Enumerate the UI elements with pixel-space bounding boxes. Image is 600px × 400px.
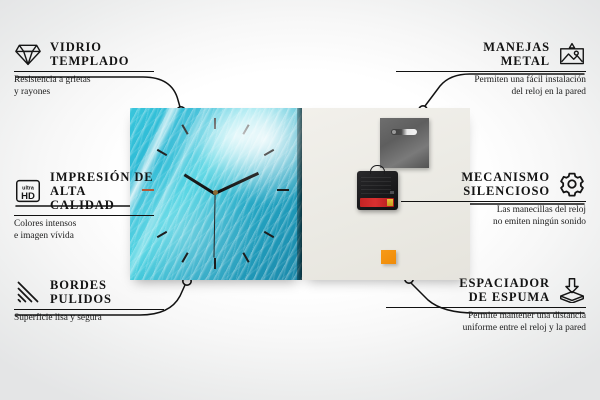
hanger-slot — [391, 129, 417, 135]
foam-spacer-pad — [381, 250, 396, 264]
infographic-canvas: VIDRIO TEMPLADO Resistencia a grietas y … — [0, 0, 600, 400]
feature-desc: Colores intensos e imagen vívida — [14, 219, 154, 242]
clock-hub — [213, 190, 218, 195]
glass-reflection — [130, 108, 302, 280]
feature-desc: Permite mantener una distancia uniforme … — [386, 311, 586, 334]
quartz-clock-mechanism — [357, 171, 398, 210]
feature-desc: Permiten una fácil instalación del reloj… — [396, 75, 586, 98]
feature-rule — [401, 201, 586, 202]
feature-impresion-alta-calidad: ultra HD IMPRESIÓN DE ALTA CALIDAD Color… — [14, 170, 154, 242]
feature-rule — [14, 71, 154, 72]
feature-desc: Las manecillas del reloj no emiten ningú… — [401, 205, 586, 228]
feature-title: MECANISMO SILENCIOSO — [461, 170, 550, 198]
feature-title: IMPRESIÓN DE ALTA CALIDAD — [50, 170, 154, 212]
svg-text:HD: HD — [21, 191, 35, 202]
feature-rule — [14, 215, 154, 216]
polished-edges-icon — [14, 279, 42, 305]
feature-rule — [14, 309, 164, 310]
foam-spacer-icon — [558, 277, 586, 303]
gear-icon — [558, 171, 586, 197]
mechanism-dial — [390, 191, 394, 194]
feature-title: ESPACIADOR DE ESPUMA — [459, 276, 550, 304]
feature-vidrio-templado: VIDRIO TEMPLADO Resistencia a grietas y … — [14, 40, 154, 98]
feature-mecanismo-silencioso: MECANISMO SILENCIOSO Las manecillas del … — [401, 170, 586, 228]
minute-hand — [214, 172, 259, 195]
mechanism-loop — [370, 165, 385, 174]
metal-hanger-plate — [380, 118, 429, 168]
hour-tick — [214, 258, 216, 269]
feature-title: MANEJAS METAL — [483, 40, 550, 68]
hour-hand — [184, 173, 216, 195]
hour-tick — [264, 149, 275, 156]
feature-title: BORDES PULIDOS — [50, 278, 112, 306]
feature-desc: Resistencia a grietas y rayones — [14, 75, 154, 98]
wall-frame-icon — [558, 41, 586, 67]
mechanism-grill — [361, 176, 391, 194]
feature-desc: Superficie lisa y segura — [14, 313, 164, 324]
feature-title: VIDRIO TEMPLADO — [50, 40, 129, 68]
feature-rule — [386, 307, 586, 308]
hour-tick — [157, 149, 168, 156]
hour-tick — [214, 118, 216, 129]
feature-manejas-metal: MANEJAS METAL Permiten una fácil instala… — [396, 40, 586, 98]
feature-bordes-pulidos: BORDES PULIDOS Superficie lisa y segura — [14, 278, 164, 325]
feature-rule — [396, 71, 586, 72]
glass-clock-face — [130, 108, 302, 280]
aa-battery — [360, 198, 394, 207]
diamond-icon — [14, 41, 42, 67]
hour-tick — [181, 124, 188, 135]
feature-espaciador-espuma: ESPACIADOR DE ESPUMA Permite mantener un… — [386, 276, 586, 334]
hour-tick — [277, 189, 289, 191]
ultra-hd-icon: ultra HD — [14, 178, 42, 204]
hour-tick — [242, 124, 249, 135]
